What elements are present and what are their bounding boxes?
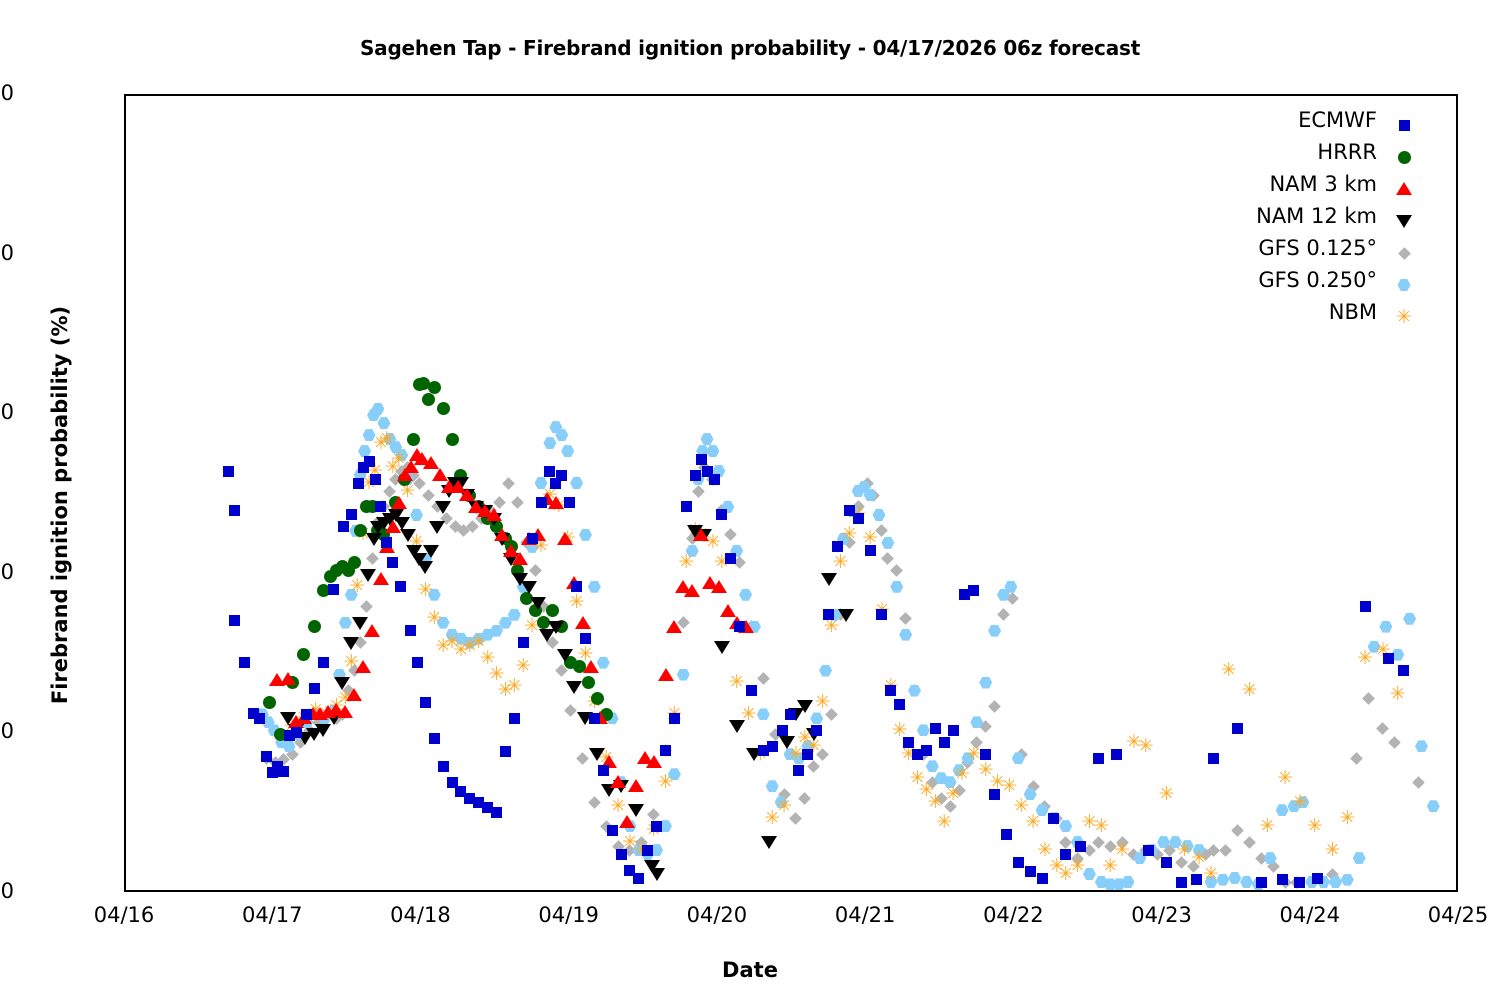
data-point-gfs-0-125 — [807, 760, 820, 773]
data-point-gfs-0-125 — [366, 552, 379, 565]
data-point-nam-12-km — [779, 736, 795, 749]
data-point-gfs-0-125 — [899, 612, 912, 625]
data-point-ecmwf — [1143, 845, 1154, 856]
data-point-nam-3-km — [364, 624, 380, 637]
data-point-ecmwf — [1048, 813, 1059, 824]
data-point-gfs-0-250 — [979, 677, 992, 689]
data-point-nam-3-km — [355, 660, 371, 673]
y-tick-label: 40 — [0, 560, 14, 584]
data-point-nbm: ✳ — [945, 786, 962, 803]
data-point-gfs-0-250 — [899, 629, 912, 641]
data-point-ecmwf — [832, 541, 843, 552]
x-tick-label: 04/24 — [1230, 903, 1390, 927]
data-point-nbm: ✳ — [1389, 686, 1406, 703]
data-point-gfs-0-250 — [579, 529, 592, 541]
data-point-ecmwf — [968, 585, 979, 596]
data-point-hrrr — [446, 433, 459, 446]
data-point-gfs-0-125 — [1243, 836, 1256, 849]
data-point-nam-12-km — [429, 521, 445, 534]
data-point-ecmwf — [811, 725, 822, 736]
data-point-gfs-0-250 — [881, 537, 894, 549]
data-point-ecmwf — [777, 725, 788, 736]
data-point-gfs-0-250 — [872, 509, 885, 521]
data-point-nbm: ✳ — [610, 798, 627, 815]
data-point-nam-12-km — [761, 836, 777, 849]
legend-marker-square — [1393, 114, 1415, 136]
data-point-ecmwf — [725, 553, 736, 564]
legend-item-nam-3-km[interactable]: NAM 3 km — [1160, 172, 1415, 204]
data-point-ecmwf — [229, 615, 240, 626]
data-point-ecmwf — [690, 470, 701, 481]
data-point-gfs-0-250 — [908, 685, 921, 697]
data-point-gfs-0-125 — [1219, 844, 1232, 857]
data-point-ecmwf — [564, 497, 575, 508]
data-point-gfs-0-125 — [576, 752, 589, 765]
data-point-ecmwf — [1161, 857, 1172, 868]
data-point-nbm: ✳ — [1069, 858, 1086, 875]
data-point-nbm: ✳ — [1357, 650, 1374, 667]
data-point-ecmwf — [318, 657, 329, 668]
data-point-ecmwf — [1232, 723, 1243, 734]
data-point-ecmwf — [607, 825, 618, 836]
data-point-ecmwf — [229, 505, 240, 516]
data-point-ecmwf — [527, 533, 538, 544]
data-point-ecmwf — [980, 749, 991, 760]
data-point-ecmwf — [669, 713, 680, 724]
legend-label: GFS 0.125° — [1258, 236, 1377, 260]
x-tick-label: 04/23 — [1082, 903, 1242, 927]
data-point-gfs-0-250 — [1379, 621, 1392, 633]
x-tick-label: 04/20 — [637, 903, 797, 927]
data-point-ecmwf — [1383, 653, 1394, 664]
data-point-ecmwf — [802, 749, 813, 760]
chart-legend: ECMWFHRRRNAM 3 kmNAM 12 kmGFS 0.125°GFS … — [1160, 108, 1415, 332]
data-point-gfs-0-125 — [757, 672, 770, 685]
data-point-gfs-0-125 — [1362, 692, 1375, 705]
data-point-ecmwf — [338, 521, 349, 532]
data-point-gfs-0-125 — [1059, 836, 1072, 849]
data-point-ecmwf — [412, 657, 423, 668]
data-point-gfs-0-250 — [706, 445, 719, 457]
data-point-ecmwf — [1176, 877, 1187, 888]
data-point-ecmwf — [1001, 829, 1012, 840]
legend-marker-asterisk: ✳ — [1393, 306, 1415, 328]
data-point-gfs-0-250 — [757, 708, 770, 720]
data-point-ecmwf — [598, 765, 609, 776]
data-point-gfs-0-250 — [561, 445, 574, 457]
data-point-gfs-0-250 — [819, 665, 832, 677]
legend-marker-triangle-down — [1393, 210, 1415, 232]
data-point-ecmwf — [328, 584, 339, 595]
data-point-nbm: ✳ — [1291, 794, 1308, 811]
data-point-nbm: ✳ — [832, 554, 849, 571]
data-point-ecmwf — [716, 509, 727, 520]
legend-item-ecmwf[interactable]: ECMWF — [1160, 108, 1415, 140]
data-point-nam-3-km — [512, 552, 528, 565]
data-point-ecmwf — [853, 513, 864, 524]
data-point-nam-12-km — [548, 621, 564, 634]
data-point-gfs-0-250 — [410, 509, 423, 521]
x-tick-label: 04/21 — [785, 903, 945, 927]
data-point-ecmwf — [709, 474, 720, 485]
data-point-ecmwf — [876, 609, 887, 620]
data-point-ecmwf — [1013, 857, 1024, 868]
data-point-ecmwf — [1208, 753, 1219, 764]
data-point-ecmwf — [370, 474, 381, 485]
data-point-gfs-0-250 — [988, 625, 1001, 637]
data-point-nam-3-km — [486, 508, 502, 521]
legend-item-nbm[interactable]: NBM✳ — [1160, 300, 1415, 332]
data-point-nam-3-km — [557, 532, 573, 545]
data-point-ecmwf — [589, 713, 600, 724]
data-point-gfs-0-125 — [1231, 824, 1244, 837]
data-point-ecmwf — [387, 557, 398, 568]
data-point-ecmwf — [438, 761, 449, 772]
data-point-nam-3-km — [280, 672, 296, 685]
data-point-ecmwf — [1060, 849, 1071, 860]
legend-item-gfs-0-250[interactable]: GFS 0.250° — [1160, 268, 1415, 300]
data-point-nbm: ✳ — [1259, 818, 1276, 835]
data-point-gfs-0-125 — [1350, 752, 1363, 765]
data-point-gfs-0-125 — [692, 485, 705, 498]
data-point-ecmwf — [785, 709, 796, 720]
data-point-gfs-0-125 — [588, 796, 601, 809]
data-point-gfs-0-250 — [1276, 804, 1289, 816]
data-point-nam-3-km — [658, 668, 674, 681]
data-point-ecmwf — [556, 470, 567, 481]
y-tick-label: 20 — [0, 719, 14, 743]
data-point-ecmwf — [734, 621, 745, 632]
chart-title: Sagehen Tap - Firebrand ignition probabi… — [0, 36, 1500, 60]
data-point-hrrr — [348, 556, 361, 569]
data-point-nbm: ✳ — [1324, 842, 1341, 859]
data-point-gfs-0-125 — [511, 497, 524, 510]
data-point-nbm: ✳ — [678, 554, 695, 571]
legend-label: ECMWF — [1298, 108, 1377, 132]
x-tick-label: 04/25 — [1378, 903, 1500, 927]
data-point-ecmwf — [989, 789, 1000, 800]
data-point-ecmwf — [660, 745, 671, 756]
data-point-ecmwf — [239, 657, 250, 668]
data-point-ecmwf — [930, 723, 941, 734]
data-point-nbm: ✳ — [936, 814, 953, 831]
data-point-nam-12-km — [714, 641, 730, 654]
data-point-gfs-0-250 — [810, 712, 823, 724]
data-point-ecmwf — [903, 737, 914, 748]
data-point-nbm: ✳ — [506, 678, 523, 695]
data-point-nam-3-km — [610, 775, 626, 788]
data-point-hrrr — [407, 433, 420, 446]
data-point-ecmwf — [948, 725, 959, 736]
data-point-gfs-0-250 — [890, 581, 903, 593]
data-point-ecmwf — [405, 625, 416, 636]
data-point-gfs-0-250 — [739, 589, 752, 601]
data-point-nam-12-km — [566, 681, 582, 694]
data-point-ecmwf — [491, 807, 502, 818]
data-point-ecmwf — [616, 849, 627, 860]
data-point-nbm: ✳ — [1202, 866, 1219, 883]
x-axis-label: Date — [0, 958, 1500, 982]
data-point-nam-3-km — [373, 572, 389, 585]
data-point-gfs-0-125 — [724, 529, 737, 542]
data-point-ecmwf — [309, 683, 320, 694]
data-point-ecmwf — [580, 633, 591, 644]
data-point-gfs-0-125 — [1092, 836, 1105, 849]
chart-page: Sagehen Tap - Firebrand ignition probabi… — [0, 0, 1500, 1000]
data-point-gfs-0-250 — [339, 617, 352, 629]
data-point-nam-3-km — [494, 528, 510, 541]
data-point-nam-3-km — [575, 616, 591, 629]
data-point-ecmwf — [767, 741, 778, 752]
data-point-gfs-0-250 — [1059, 820, 1072, 832]
data-point-nbm: ✳ — [1241, 682, 1258, 699]
data-point-nam-3-km — [666, 620, 682, 633]
data-point-nbm: ✳ — [1025, 814, 1042, 831]
data-point-gfs-0-250 — [1240, 876, 1253, 888]
legend-label: GFS 0.250° — [1258, 268, 1377, 292]
data-point-nam-12-km — [417, 561, 433, 574]
data-point-nam-12-km — [423, 545, 439, 558]
legend-label: HRRR — [1317, 140, 1377, 164]
data-point-gfs-0-250 — [588, 581, 601, 593]
data-point-nam-12-km — [729, 720, 745, 733]
data-point-nam-3-km — [619, 815, 635, 828]
data-point-nbm: ✳ — [927, 794, 944, 811]
data-point-nbm: ✳ — [1220, 662, 1237, 679]
y-tick-label: 100 — [0, 81, 14, 105]
data-point-gfs-0-125 — [1412, 776, 1425, 789]
data-point-gfs-0-125 — [988, 700, 1001, 713]
data-point-gfs-0-125 — [1388, 736, 1401, 749]
data-point-ecmwf — [429, 733, 440, 744]
data-point-hrrr — [422, 393, 435, 406]
data-point-ecmwf — [353, 478, 364, 489]
data-point-nam-3-km — [548, 496, 564, 509]
legend-marker-hexagon — [1393, 274, 1415, 296]
data-point-ecmwf — [1294, 877, 1305, 888]
data-point-hrrr — [591, 692, 604, 705]
data-point-ecmwf — [921, 745, 932, 756]
legend-item-hrrr[interactable]: HRRR — [1160, 140, 1415, 172]
data-point-ecmwf — [651, 821, 662, 832]
data-point-nbm: ✳ — [1277, 770, 1294, 787]
data-point-ecmwf — [939, 737, 950, 748]
legend-marker-circle — [1393, 146, 1415, 168]
data-point-gfs-0-250 — [917, 724, 930, 736]
data-point-nbm: ✳ — [657, 774, 674, 791]
data-point-nam-3-km — [628, 779, 644, 792]
data-point-ecmwf — [1277, 874, 1288, 885]
data-point-nam-12-km — [838, 609, 854, 622]
data-point-gfs-0-250 — [677, 669, 690, 681]
data-point-gfs-0-250 — [1341, 874, 1354, 886]
data-point-nam-12-km — [435, 501, 451, 514]
data-point-nam-12-km — [315, 724, 331, 737]
data-point-nbm: ✳ — [568, 594, 585, 611]
legend-marker-diamond — [1393, 242, 1415, 264]
y-axis-label: Firebrand ignition probability (%) — [48, 105, 72, 905]
data-point-nam-3-km — [693, 528, 709, 541]
x-tick-label: 04/19 — [489, 903, 649, 927]
data-point-ecmwf — [420, 697, 431, 708]
data-point-ecmwf — [1312, 873, 1323, 884]
data-point-nbm: ✳ — [728, 674, 745, 691]
legend-item-gfs-0-125[interactable]: GFS 0.125° — [1160, 236, 1415, 268]
data-point-ecmwf — [278, 766, 289, 777]
data-point-nam-12-km — [649, 868, 665, 881]
data-point-gfs-0-125 — [798, 792, 811, 805]
data-point-nam-3-km — [646, 755, 662, 768]
data-point-nam-3-km — [346, 688, 362, 701]
data-point-nam-12-km — [797, 700, 813, 713]
data-point-hrrr — [308, 620, 321, 633]
data-point-gfs-0-250 — [1427, 800, 1440, 812]
data-point-ecmwf — [536, 497, 547, 508]
data-point-nam-12-km — [530, 597, 546, 610]
data-point-ecmwf — [894, 699, 905, 710]
data-point-nbm: ✳ — [953, 766, 970, 783]
data-point-nbm: ✳ — [426, 610, 443, 627]
data-point-gfs-0-125 — [529, 564, 542, 577]
data-point-ecmwf — [865, 545, 876, 556]
data-point-ecmwf — [823, 609, 834, 620]
data-point-gfs-0-125 — [502, 477, 515, 490]
data-point-gfs-0-250 — [766, 780, 779, 792]
data-point-nam-12-km — [821, 573, 837, 586]
data-point-nbm: ✳ — [515, 658, 532, 675]
legend-label: NBM — [1329, 300, 1377, 324]
data-point-ecmwf — [681, 501, 692, 512]
data-point-gfs-0-250 — [1415, 740, 1428, 752]
data-point-nam-12-km — [400, 529, 416, 542]
data-point-nam-3-km — [391, 496, 407, 509]
data-point-nbm: ✳ — [1339, 810, 1356, 827]
data-point-ecmwf — [364, 456, 375, 467]
data-point-nam-3-km — [337, 705, 353, 718]
data-point-gfs-0-250 — [926, 760, 939, 772]
y-tick-label: 0 — [0, 879, 14, 903]
data-point-ecmwf — [885, 685, 896, 696]
data-point-gfs-0-250 — [1353, 852, 1366, 864]
data-point-hrrr — [546, 604, 559, 617]
data-point-nam-3-km — [385, 520, 401, 533]
x-tick-label: 04/16 — [44, 903, 204, 927]
data-point-ecmwf — [346, 509, 357, 520]
legend-label: NAM 3 km — [1269, 172, 1377, 196]
data-point-ecmwf — [571, 581, 582, 592]
data-point-gfs-0-125 — [997, 608, 1010, 621]
data-point-gfs-0-125 — [564, 704, 577, 717]
data-point-ecmwf — [375, 501, 386, 512]
data-point-nbm: ✳ — [841, 526, 858, 543]
data-point-nam-3-km — [711, 580, 727, 593]
data-point-nam-12-km — [557, 649, 573, 662]
data-point-ecmwf — [518, 637, 529, 648]
data-point-gfs-0-125 — [422, 489, 435, 502]
data-point-gfs-0-125 — [881, 552, 894, 565]
data-point-ecmwf — [381, 537, 392, 548]
y-tick-label: 80 — [0, 241, 14, 265]
data-point-ecmwf — [1360, 601, 1371, 612]
data-point-ecmwf — [633, 873, 644, 884]
data-point-ecmwf — [1191, 874, 1202, 885]
data-point-nbm: ✳ — [776, 798, 793, 815]
data-point-hrrr — [582, 676, 595, 689]
data-point-nbm: ✳ — [1093, 818, 1110, 835]
data-point-nbm: ✳ — [1137, 738, 1154, 755]
data-point-gfs-0-125 — [360, 600, 373, 613]
data-point-ecmwf — [696, 454, 707, 465]
data-point-nbm: ✳ — [1114, 842, 1131, 859]
data-point-nam-3-km — [583, 660, 599, 673]
data-point-gfs-0-125 — [1377, 722, 1390, 735]
data-point-ecmwf — [261, 751, 272, 762]
data-point-ecmwf — [500, 746, 511, 757]
data-point-nbm: ✳ — [1001, 778, 1018, 795]
data-point-nbm: ✳ — [378, 431, 395, 448]
data-point-ecmwf — [642, 845, 653, 856]
legend-marker-triangle-up — [1393, 178, 1415, 200]
data-point-ecmwf — [1256, 877, 1267, 888]
data-point-gfs-0-250 — [1403, 613, 1416, 625]
data-point-nam-12-km — [521, 581, 537, 594]
data-point-gfs-0-250 — [701, 433, 714, 445]
data-point-ecmwf — [301, 709, 312, 720]
data-point-ecmwf — [1075, 841, 1086, 852]
data-point-hrrr — [437, 402, 450, 415]
data-point-gfs-0-250 — [570, 477, 583, 489]
x-tick-label: 04/17 — [192, 903, 352, 927]
data-point-ecmwf — [254, 713, 265, 724]
data-point-hrrr — [428, 381, 441, 394]
data-point-ecmwf — [395, 581, 406, 592]
data-point-nam-12-km — [343, 637, 359, 650]
y-tick-label: 60 — [0, 400, 14, 424]
data-point-ecmwf — [509, 713, 520, 724]
data-point-ecmwf — [1025, 866, 1036, 877]
x-tick-label: 04/22 — [933, 903, 1093, 927]
data-point-ecmwf — [291, 727, 302, 738]
data-point-ecmwf — [223, 466, 234, 477]
data-point-nbm: ✳ — [814, 694, 831, 711]
data-point-ecmwf — [1398, 665, 1409, 676]
data-point-gfs-0-125 — [890, 564, 903, 577]
data-point-ecmwf — [544, 466, 555, 477]
data-point-ecmwf — [1111, 749, 1122, 760]
data-point-hrrr — [263, 696, 276, 709]
data-point-hrrr — [297, 648, 310, 661]
x-tick-label: 04/18 — [340, 903, 500, 927]
data-point-gfs-0-250 — [543, 437, 556, 449]
data-point-nbm: ✳ — [1158, 786, 1175, 803]
data-point-ecmwf — [793, 765, 804, 776]
legend-label: NAM 12 km — [1256, 204, 1377, 228]
data-point-ecmwf — [1093, 753, 1104, 764]
data-point-nbm: ✳ — [1306, 818, 1323, 835]
data-point-nam-3-km — [684, 584, 700, 597]
data-point-nbm: ✳ — [417, 582, 434, 599]
data-point-ecmwf — [746, 685, 757, 696]
data-point-ecmwf — [1037, 873, 1048, 884]
legend-item-nam-12-km[interactable]: NAM 12 km — [1160, 204, 1415, 236]
data-point-gfs-0-250 — [1228, 872, 1241, 884]
